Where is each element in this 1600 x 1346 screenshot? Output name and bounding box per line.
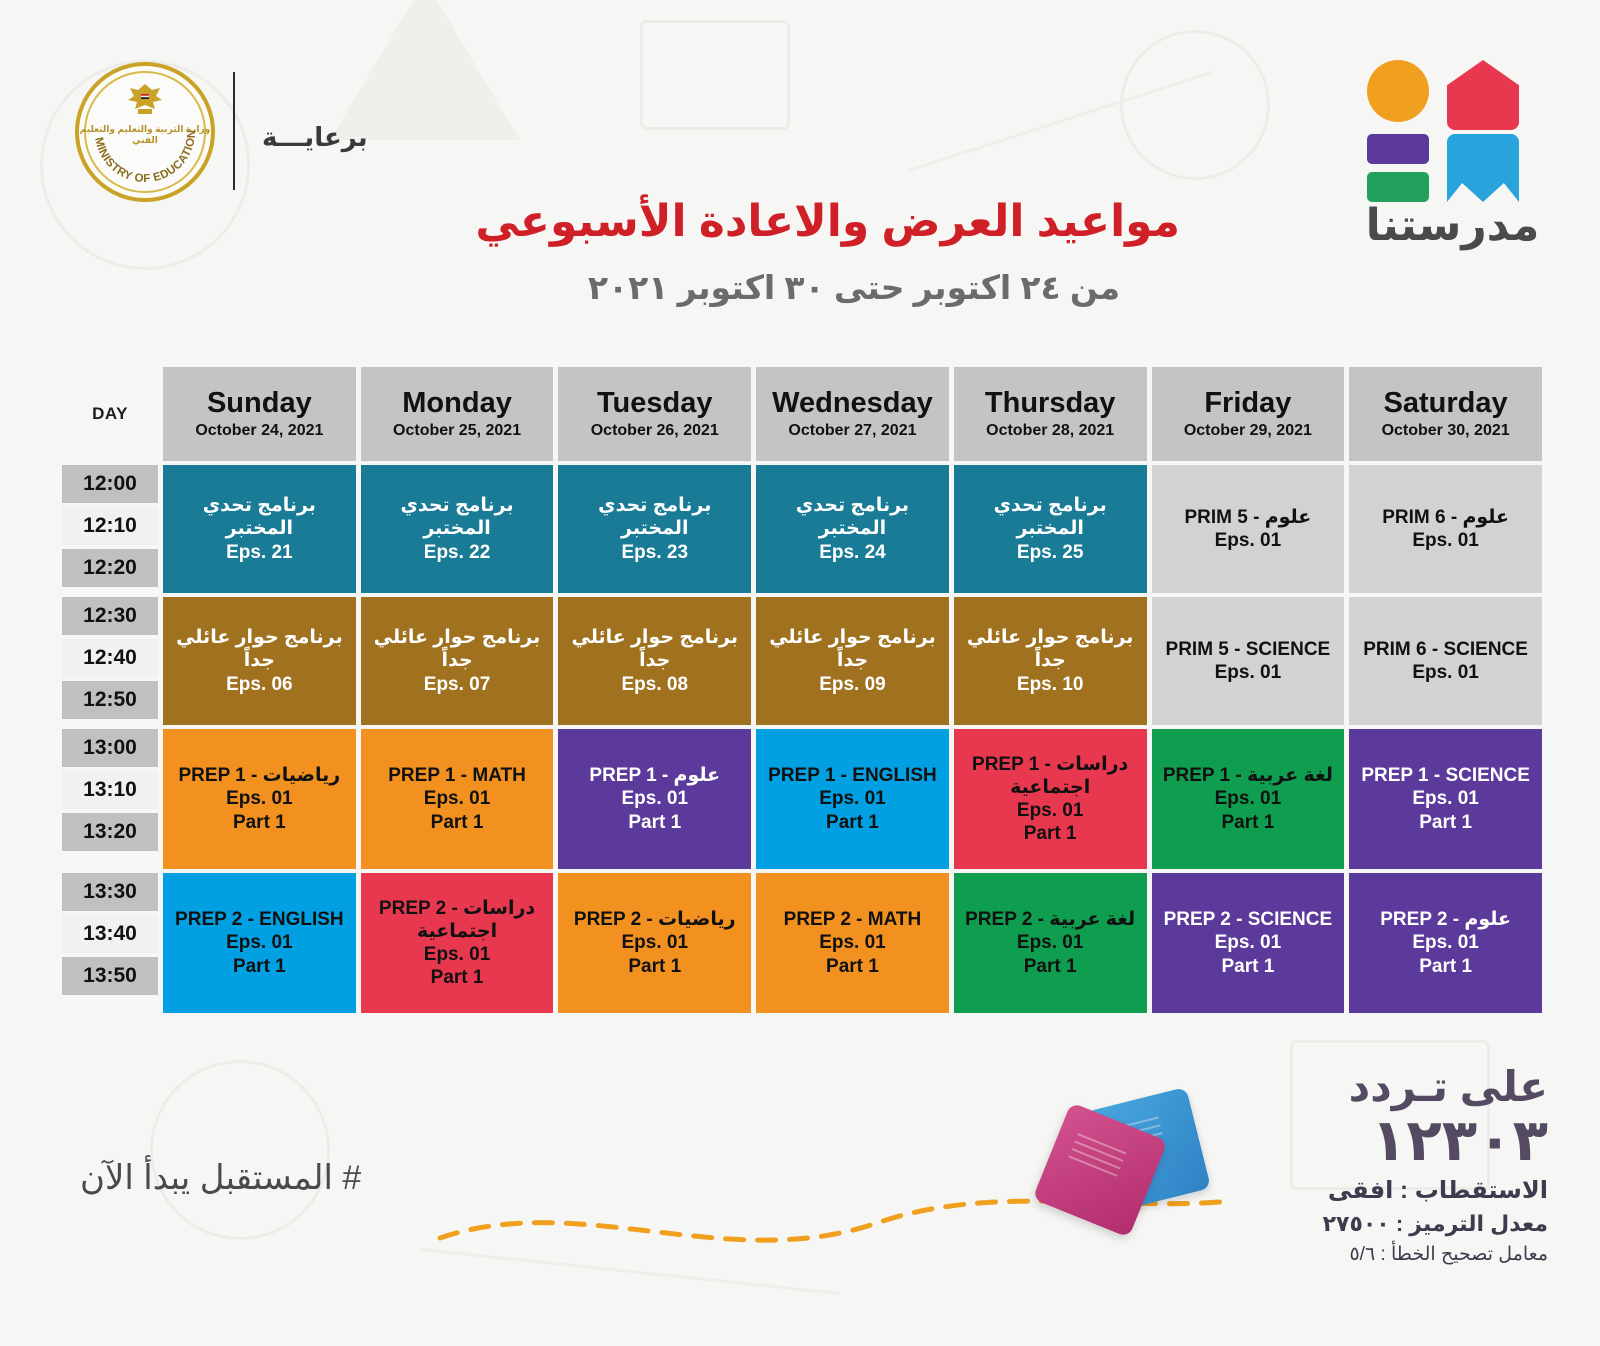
logo-circle-shape [1367,60,1429,122]
table-body: 12:0012:1012:20برنامج تحدي المختبرEps. 2… [62,465,1542,1013]
program-title: برنامج تحدي المختبر [169,494,350,540]
program-episode: Eps. 01 [367,943,548,966]
program-title: برنامج تحدي المختبر [367,494,548,540]
program-title: PREP 1 - ENGLISH [762,764,943,787]
schedule-row: 12:3012:4012:50برنامج حوار عائلي جداًEps… [62,597,1542,725]
program-episode: Eps. 25 [960,541,1141,564]
program-episode: Eps. 23 [564,541,745,564]
program-cell: PREP 2 - رياضياتEps. 01Part 1 [558,873,751,1013]
program-episode: Eps. 07 [367,673,548,696]
program-title: PRIM 5 - SCIENCE [1158,638,1339,661]
logo-house-shape [1447,60,1519,130]
day-header-tuesday: TuesdayOctober 26, 2021 [558,367,751,461]
program-episode: Eps. 01 [1158,661,1339,684]
program-part: Part 1 [169,811,350,834]
day-date: October 25, 2021 [365,422,550,440]
program-cell: برنامج حوار عائلي جداًEps. 09 [756,597,949,725]
program-cell: PREP 2 - لغة عربيةEps. 01Part 1 [954,873,1147,1013]
program-cell: PREP 1 - SCIENCEEps. 01Part 1 [1349,729,1542,869]
program-episode: Eps. 01 [762,931,943,954]
ministry-logo: وزارة التربية والتعليم والتعليم الفني MI… [75,62,215,202]
channel-name: مدرستنا [1355,200,1550,251]
program-part: Part 1 [367,811,548,834]
time-column-cell: 13:0013:1013:20 [62,729,158,869]
program-title: PREP 2 - SCIENCE [1158,908,1339,931]
program-title: PREP 1 - دراسات اجتماعية [960,753,1141,799]
program-title: PREP 2 - رياضيات [564,908,745,931]
time-slot: 13:00 [62,729,158,767]
program-cell: برنامج تحدي المختبرEps. 25 [954,465,1147,593]
program-cell: برنامج حوار عائلي جداًEps. 10 [954,597,1147,725]
page-title: مواعيد العرض والاعادة الأسبوعي [475,196,1180,247]
program-cell: برنامج حوار عائلي جداًEps. 06 [163,597,356,725]
logo-blue-shape [1447,134,1519,202]
page-header: وزارة التربية والتعليم والتعليم الفني MI… [0,0,1600,352]
program-episode: Eps. 01 [1158,931,1339,954]
schedule-row: 13:3013:4013:50PREP 2 - ENGLISHEps. 01Pa… [62,873,1542,1013]
program-episode: Eps. 01 [762,787,943,810]
program-title: PREP 1 - MATH [367,764,548,787]
time-slot: 12:30 [62,597,158,635]
program-title: PRIM 6 - SCIENCE [1355,638,1536,661]
day-name: Sunday [167,388,352,418]
schedule-row: 13:0013:1013:20PREP 1 - رياضياتEps. 01Pa… [62,729,1542,869]
day-date: October 30, 2021 [1353,422,1538,440]
program-part: Part 1 [1158,955,1339,978]
program-episode: Eps. 10 [960,673,1141,696]
program-cell: PREP 2 - MATHEps. 01Part 1 [756,873,949,1013]
program-cell: PREP 1 - رياضياتEps. 01Part 1 [163,729,356,869]
program-episode: Eps. 01 [960,799,1141,822]
program-episode: Eps. 01 [1355,931,1536,954]
time-slot: 13:30 [62,873,158,911]
program-part: Part 1 [564,955,745,978]
program-title: PREP 1 - علوم [564,764,745,787]
day-name: Wednesday [760,388,945,418]
program-cell: PREP 2 - ENGLISHEps. 01Part 1 [163,873,356,1013]
program-part: Part 1 [1355,955,1536,978]
day-date: October 28, 2021 [958,422,1143,440]
table-head: DAY SundayOctober 24, 2021MondayOctober … [62,367,1542,461]
program-title: PREP 1 - لغة عربية [1158,764,1339,787]
program-episode: Eps. 01 [169,931,350,954]
time-slot: 13:50 [62,957,158,995]
frequency-info: على تـردد ١٢٣٠٣ الاستقطاب : افقى معدل ال… [1323,1062,1548,1266]
fec-info: معامل تصحيح الخطأ : ٥/٦ [1323,1243,1548,1266]
program-cell: برنامج تحدي المختبرEps. 21 [163,465,356,593]
time-slot: 12:20 [62,549,158,587]
time-slot: 13:10 [62,771,158,809]
notebooks-illustration [1040,1092,1230,1262]
program-title: برنامج حوار عائلي جداً [762,626,943,672]
frequency-value: ١٢٣٠٣ [1323,1111,1548,1172]
time-slot: 12:00 [62,465,158,503]
program-episode: Eps. 24 [762,541,943,564]
program-episode: Eps. 01 [564,787,745,810]
program-episode: Eps. 09 [762,673,943,696]
logo-green-bar [1367,172,1429,202]
program-cell: PRIM 6 - علومEps. 01 [1349,465,1542,593]
logo-purple-bar [1367,134,1429,164]
program-part: Part 1 [960,822,1141,845]
sponsor-label: برعايـــة [262,122,368,153]
program-part: Part 1 [762,955,943,978]
page-subtitle: من ٢٤ اكتوبر حتى ٣٠ اكتوبر ٢٠٢١ [588,268,1120,307]
program-title: برنامج تحدي المختبر [762,494,943,540]
program-title: PREP 2 - دراسات اجتماعية [367,897,548,943]
day-date: October 24, 2021 [167,422,352,440]
program-title: PREP 2 - علوم [1355,908,1536,931]
svg-text:MINISTRY OF EDUCATION AND TECH: MINISTRY OF EDUCATION AND TECHNICAL EDUC… [75,62,198,185]
program-title: PREP 1 - SCIENCE [1355,764,1536,787]
program-title: برنامج تحدي المختبر [960,494,1141,540]
program-part: Part 1 [564,811,745,834]
symbol-rate-info: معدل الترميز : ٢٧٥٠٠ [1323,1211,1548,1237]
program-episode: Eps. 01 [1158,529,1339,552]
table-header-row: DAY SundayOctober 24, 2021MondayOctober … [62,367,1542,461]
time-slot: 12:40 [62,639,158,677]
day-header-monday: MondayOctober 25, 2021 [361,367,554,461]
program-cell: PREP 1 - دراسات اجتماعيةEps. 01Part 1 [954,729,1147,869]
day-date: October 27, 2021 [760,422,945,440]
day-column-label: DAY [62,367,158,461]
hashtag-slogan: # المستقبل يبدأ الآن [80,1158,361,1198]
program-title: برنامج تحدي المختبر [564,494,745,540]
program-title: برنامج حوار عائلي جداً [169,626,350,672]
program-cell: PREP 1 - لغة عربيةEps. 01Part 1 [1152,729,1345,869]
program-part: Part 1 [1158,811,1339,834]
program-cell: PREP 1 - MATHEps. 01Part 1 [361,729,554,869]
program-cell: برنامج حوار عائلي جداًEps. 07 [361,597,554,725]
program-part: Part 1 [1355,811,1536,834]
watermark-circle-3 [150,1060,330,1240]
program-episode: Eps. 01 [1355,529,1536,552]
program-episode: Eps. 01 [1355,661,1536,684]
infographic-page: وزارة التربية والتعليم والتعليم الفني MI… [0,0,1600,1346]
program-episode: Eps. 01 [367,787,548,810]
program-episode: Eps. 06 [169,673,350,696]
program-title: برنامج حوار عائلي جداً [960,626,1141,672]
program-title: PRIM 6 - علوم [1355,506,1536,529]
program-episode: Eps. 01 [169,787,350,810]
schedule-row: 12:0012:1012:20برنامج تحدي المختبرEps. 2… [62,465,1542,593]
program-cell: برنامج تحدي المختبرEps. 23 [558,465,751,593]
program-title: PREP 2 - لغة عربية [960,908,1141,931]
time-slot: 12:10 [62,507,158,545]
program-cell: PREP 2 - SCIENCEEps. 01Part 1 [1152,873,1345,1013]
day-date: October 29, 2021 [1156,422,1341,440]
logo-english-textpath: MINISTRY OF EDUCATION AND TECHNICAL EDUC… [75,62,198,185]
day-name: Thursday [958,388,1143,418]
program-cell: PREP 2 - علومEps. 01Part 1 [1349,873,1542,1013]
program-part: Part 1 [169,955,350,978]
program-title: برنامج حوار عائلي جداً [564,626,745,672]
time-slot: 12:50 [62,681,158,719]
program-episode: Eps. 08 [564,673,745,696]
program-episode: Eps. 01 [1355,787,1536,810]
day-name: Tuesday [562,388,747,418]
polarization-info: الاستقطاب : افقى [1323,1176,1548,1205]
program-part: Part 1 [367,966,548,989]
time-column-cell: 13:3013:4013:50 [62,873,158,1013]
program-episode: Eps. 21 [169,541,350,564]
program-cell: PREP 1 - علومEps. 01Part 1 [558,729,751,869]
day-header-wednesday: WednesdayOctober 27, 2021 [756,367,949,461]
program-cell: PRIM 6 - SCIENCEEps. 01 [1349,597,1542,725]
day-name: Saturday [1353,388,1538,418]
program-title: PREP 2 - MATH [762,908,943,931]
header-divider [233,72,235,190]
program-title: PREP 1 - رياضيات [169,764,350,787]
day-header-sunday: SundayOctober 24, 2021 [163,367,356,461]
program-episode: Eps. 01 [1158,787,1339,810]
schedule-table: DAY SundayOctober 24, 2021MondayOctober … [57,363,1547,1017]
program-episode: Eps. 22 [367,541,548,564]
schedule-table-wrapper: DAY SundayOctober 24, 2021MondayOctober … [57,363,1547,1017]
program-cell: PREP 1 - ENGLISHEps. 01Part 1 [756,729,949,869]
program-episode: Eps. 01 [564,931,745,954]
time-column-cell: 12:0012:1012:20 [62,465,158,593]
program-cell: PREP 2 - دراسات اجتماعيةEps. 01Part 1 [361,873,554,1013]
day-name: Monday [365,388,550,418]
logo-english-text: MINISTRY OF EDUCATION AND TECHNICAL EDUC… [75,62,215,202]
program-cell: PRIM 5 - SCIENCEEps. 01 [1152,597,1345,725]
day-header-saturday: SaturdayOctober 30, 2021 [1349,367,1542,461]
day-header-thursday: ThursdayOctober 28, 2021 [954,367,1147,461]
program-cell: برنامج تحدي المختبرEps. 24 [756,465,949,593]
program-part: Part 1 [762,811,943,834]
program-cell: PRIM 5 - علومEps. 01 [1152,465,1345,593]
time-slot: 13:20 [62,813,158,851]
program-part: Part 1 [960,955,1141,978]
day-name: Friday [1156,388,1341,418]
program-cell: برنامج حوار عائلي جداًEps. 08 [558,597,751,725]
madrasatna-logo: مدرستنا [1355,60,1550,245]
program-title: PREP 2 - ENGLISH [169,908,350,931]
time-column-cell: 12:3012:4012:50 [62,597,158,725]
day-date: October 26, 2021 [562,422,747,440]
program-title: برنامج حوار عائلي جداً [367,626,548,672]
program-cell: برنامج تحدي المختبرEps. 22 [361,465,554,593]
frequency-label: على تـردد [1323,1062,1548,1111]
program-episode: Eps. 01 [960,931,1141,954]
day-header-friday: FridayOctober 29, 2021 [1152,367,1345,461]
time-slot: 13:40 [62,915,158,953]
program-title: PRIM 5 - علوم [1158,506,1339,529]
